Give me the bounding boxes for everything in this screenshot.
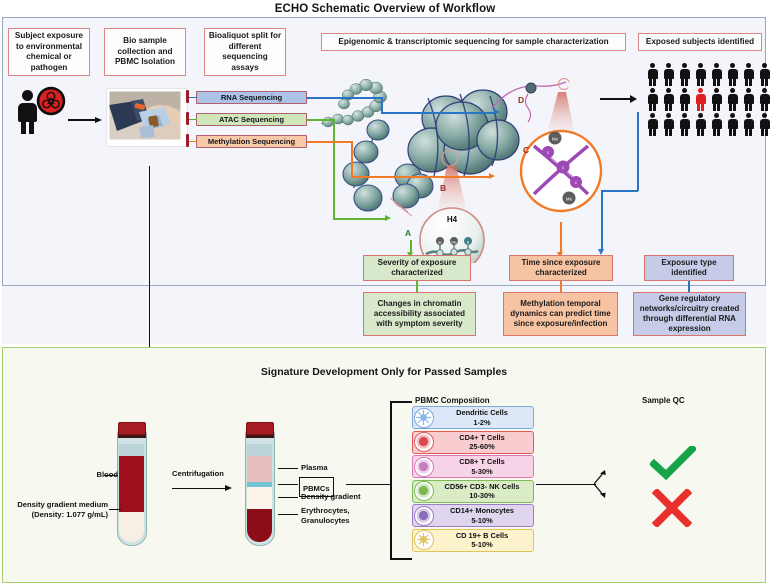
atac-arrowhead: [385, 215, 391, 221]
cell-type-name: CD4+ T Cells: [434, 433, 530, 442]
callout-letter-c: C: [523, 145, 529, 155]
cell-type-name: CD8+ T Cells: [434, 457, 530, 466]
label-erythrocytes: Erythrocytes, Granulocytes: [301, 506, 350, 525]
subject-figure: [741, 87, 756, 112]
leader-blood: [104, 475, 118, 476]
svg-text:Me: Me: [566, 196, 573, 201]
rna-to-exposure-h1: [601, 190, 638, 192]
label-density-line1: Density gradient medium: [2, 500, 108, 510]
leader-plasma: [278, 468, 298, 469]
cell-type-icon: [414, 481, 434, 501]
cell-type-icon: [414, 408, 434, 428]
qc-pass-checkmark: [650, 446, 696, 480]
cell-type-label: CD8+ T Cells5-30%: [434, 457, 533, 476]
pbmc-composition-list: Dendritic Cells1-2%CD4+ T Cells25-60%CD8…: [412, 406, 534, 553]
label-centrifugation: Centrifugation: [172, 469, 224, 479]
subject-figure: [645, 87, 660, 112]
svg-text:ac: ac: [438, 239, 442, 244]
pbmc-bracket-top: [390, 401, 412, 403]
label-density-line2: (Density: 1.077 g/mL): [2, 510, 108, 520]
qc-fail-cross: [652, 489, 692, 527]
header-bioaliquot-split: Bioaliquot split for different sequencin…: [204, 28, 286, 76]
outcome-detail-gene-regulatory: Gene regulatory networks/circuitry creat…: [633, 292, 746, 336]
subject-figure: [661, 62, 676, 87]
cell-type-name: Dendritic Cells: [434, 408, 530, 417]
rna-line-h1: [307, 97, 382, 99]
subject-figure: [709, 112, 724, 137]
label-erythrocytes-line1: Erythrocytes,: [301, 506, 350, 516]
cell-type-label: CD4+ T Cells25-60%: [434, 433, 533, 452]
assay-rna-stub: [189, 97, 197, 98]
arrow-subject-to-sample: [68, 116, 102, 124]
callout-letter-d: D: [518, 95, 524, 105]
pbmc-row[interactable]: CD14+ Monocytes5-10%: [412, 504, 534, 527]
pbmc-bracket-v: [390, 401, 392, 560]
rna-arrowhead: [494, 109, 500, 115]
assay-methylation-label: Methylation Sequencing: [196, 135, 307, 148]
cell-type-label: CD56+ CD3- NK Cells10-30%: [434, 482, 533, 501]
subject-figure: [645, 112, 660, 137]
subject-figure: [757, 62, 770, 87]
header-sequencing-characterization: Epigenomic & transcriptomic sequencing f…: [321, 33, 626, 51]
subject-figure: [16, 90, 38, 134]
blood-tube-after: [245, 422, 277, 552]
subject-figure: [693, 112, 708, 137]
pbmc-row[interactable]: CD 19+ B Cells5-10%: [412, 529, 534, 552]
assay-methylation-stub: [189, 141, 197, 142]
exposed-subjects-grid: [645, 62, 770, 137]
subject-figure: [661, 112, 676, 137]
signature-panel-header: Signature Development Only for Passed Sa…: [2, 366, 766, 378]
svg-text:Me: Me: [552, 136, 559, 141]
subject-figure: [677, 62, 692, 87]
qc-split-down: [594, 483, 608, 499]
rna-line-h2: [381, 112, 496, 114]
atac-line-v1: [333, 119, 335, 219]
sample-qc-title: Sample QC: [642, 396, 685, 405]
arrow-to-subjects: [600, 95, 638, 103]
subject-figure: [757, 87, 770, 112]
leader-pbmcs: [278, 484, 298, 485]
biohazard-icon: [36, 86, 66, 116]
assay-atac-stub: [189, 119, 197, 120]
meth-line-h3: [351, 176, 491, 178]
cell-type-icon: [414, 506, 434, 526]
cell-type-name: CD 19+ B Cells: [434, 531, 530, 540]
atac-line-h1: [307, 119, 334, 121]
subject-figure: [725, 112, 740, 137]
outcome-severity: Severity of exposure characterized: [363, 255, 471, 281]
subject-figure: [709, 87, 724, 112]
pbmc-row[interactable]: Dendritic Cells1-2%: [412, 406, 534, 429]
subject-figure: [725, 62, 740, 87]
cell-type-percentage: 5-10%: [434, 516, 530, 525]
subject-figure: [709, 62, 724, 87]
svg-text:H4: H4: [447, 215, 458, 224]
cell-type-label: CD14+ Monocytes5-10%: [434, 506, 533, 525]
pbmc-row[interactable]: CD8+ T Cells5-30%: [412, 455, 534, 478]
cell-type-icon: [414, 432, 434, 452]
chromatin-illustration: H4 ac Me p 5 3 1 Me c: [320, 78, 620, 263]
pbmc-bracket-bottom: [390, 558, 412, 560]
cell-type-percentage: 10-30%: [434, 491, 530, 500]
svg-text:Me: Me: [451, 239, 457, 244]
assay-atac-label: ATAC Sequencing: [196, 113, 307, 126]
rna-to-exposure-v2: [601, 190, 603, 250]
callout-letter-b: B: [440, 183, 446, 193]
atac-line-h2: [333, 218, 387, 220]
outcome-detail-chromatin: Changes in chromatin accessibility assoc…: [363, 292, 476, 336]
arrow-centrifugation: [172, 484, 234, 493]
meth-line-v1: [351, 141, 353, 177]
cell-type-label: Dendritic Cells1-2%: [434, 408, 533, 427]
callout-letter-a: A: [405, 228, 411, 238]
cell-type-icon: [414, 457, 434, 477]
page-title: ECHO Schematic Overview of Workflow: [0, 0, 770, 17]
cell-type-icon: [414, 530, 434, 550]
header-exposed-subjects: Exposed subjects identified: [638, 33, 762, 51]
subject-figure-exposed: [693, 87, 708, 112]
cell-type-label: CD 19+ B Cells5-10%: [434, 531, 533, 550]
cell-type-percentage: 5-30%: [434, 467, 530, 476]
label-density-gradient-medium: Density gradient medium (Density: 1.077 …: [2, 500, 108, 519]
subject-figure: [757, 112, 770, 137]
cell-type-percentage: 5-10%: [434, 540, 530, 549]
label-erythrocytes-line2: Granulocytes: [301, 516, 350, 526]
subject-figure: [677, 87, 692, 112]
cell-type-percentage: 25-60%: [434, 442, 530, 451]
outcome-detail-methylation: Methylation temporal dynamics can predic…: [503, 292, 618, 336]
meth-arrowhead: [489, 173, 495, 179]
subject-figure: [741, 112, 756, 137]
outcome-exposure-type: Exposure type identified: [644, 255, 734, 281]
label-density-gradient: Density gradient: [301, 492, 361, 502]
rna-line-v1: [381, 97, 383, 113]
pbmc-row[interactable]: CD56+ CD3- NK Cells10-30%: [412, 480, 534, 503]
assay-rna-box[interactable]: RNA Sequencing: [196, 91, 307, 104]
leader-erythrocytes: [278, 514, 298, 515]
blood-tube-before: [117, 422, 149, 552]
time-line: [560, 222, 562, 254]
leader-density-gradient: [278, 497, 298, 498]
assay-atac-box[interactable]: ATAC Sequencing: [196, 113, 307, 126]
pbmc-composition-title: PBMC Composition: [415, 396, 490, 405]
label-plasma: Plasma: [301, 463, 328, 473]
cell-type-name: CD14+ Monocytes: [434, 506, 530, 515]
assay-rna-label: RNA Sequencing: [196, 91, 307, 104]
cell-type-name: CD56+ CD3- NK Cells: [434, 482, 530, 491]
subject-figure: [677, 112, 692, 137]
cell-type-percentage: 1-2%: [434, 418, 530, 427]
pbmc-connector-h: [346, 484, 391, 485]
subject-figure: [725, 87, 740, 112]
subject-figure: [661, 87, 676, 112]
qc-connector-h: [536, 484, 596, 485]
header-bio-sample: Bio sample collection and PBMC Isolation: [104, 28, 186, 76]
header-subject-exposure: Subject exposure to environmental chemic…: [8, 28, 90, 76]
subject-figure: [645, 62, 660, 87]
blood-draw-photo: [107, 89, 187, 146]
assay-methylation-box[interactable]: Methylation Sequencing: [196, 135, 307, 148]
subject-figure: [741, 62, 756, 87]
meth-line-h1: [307, 141, 352, 143]
rna-to-exposure-v1: [637, 112, 639, 191]
outcome-time: Time since exposure characterized: [509, 255, 613, 281]
subject-figure: [693, 62, 708, 87]
leader-density-medium: [109, 509, 121, 510]
pbmc-row[interactable]: CD4+ T Cells25-60%: [412, 431, 534, 454]
